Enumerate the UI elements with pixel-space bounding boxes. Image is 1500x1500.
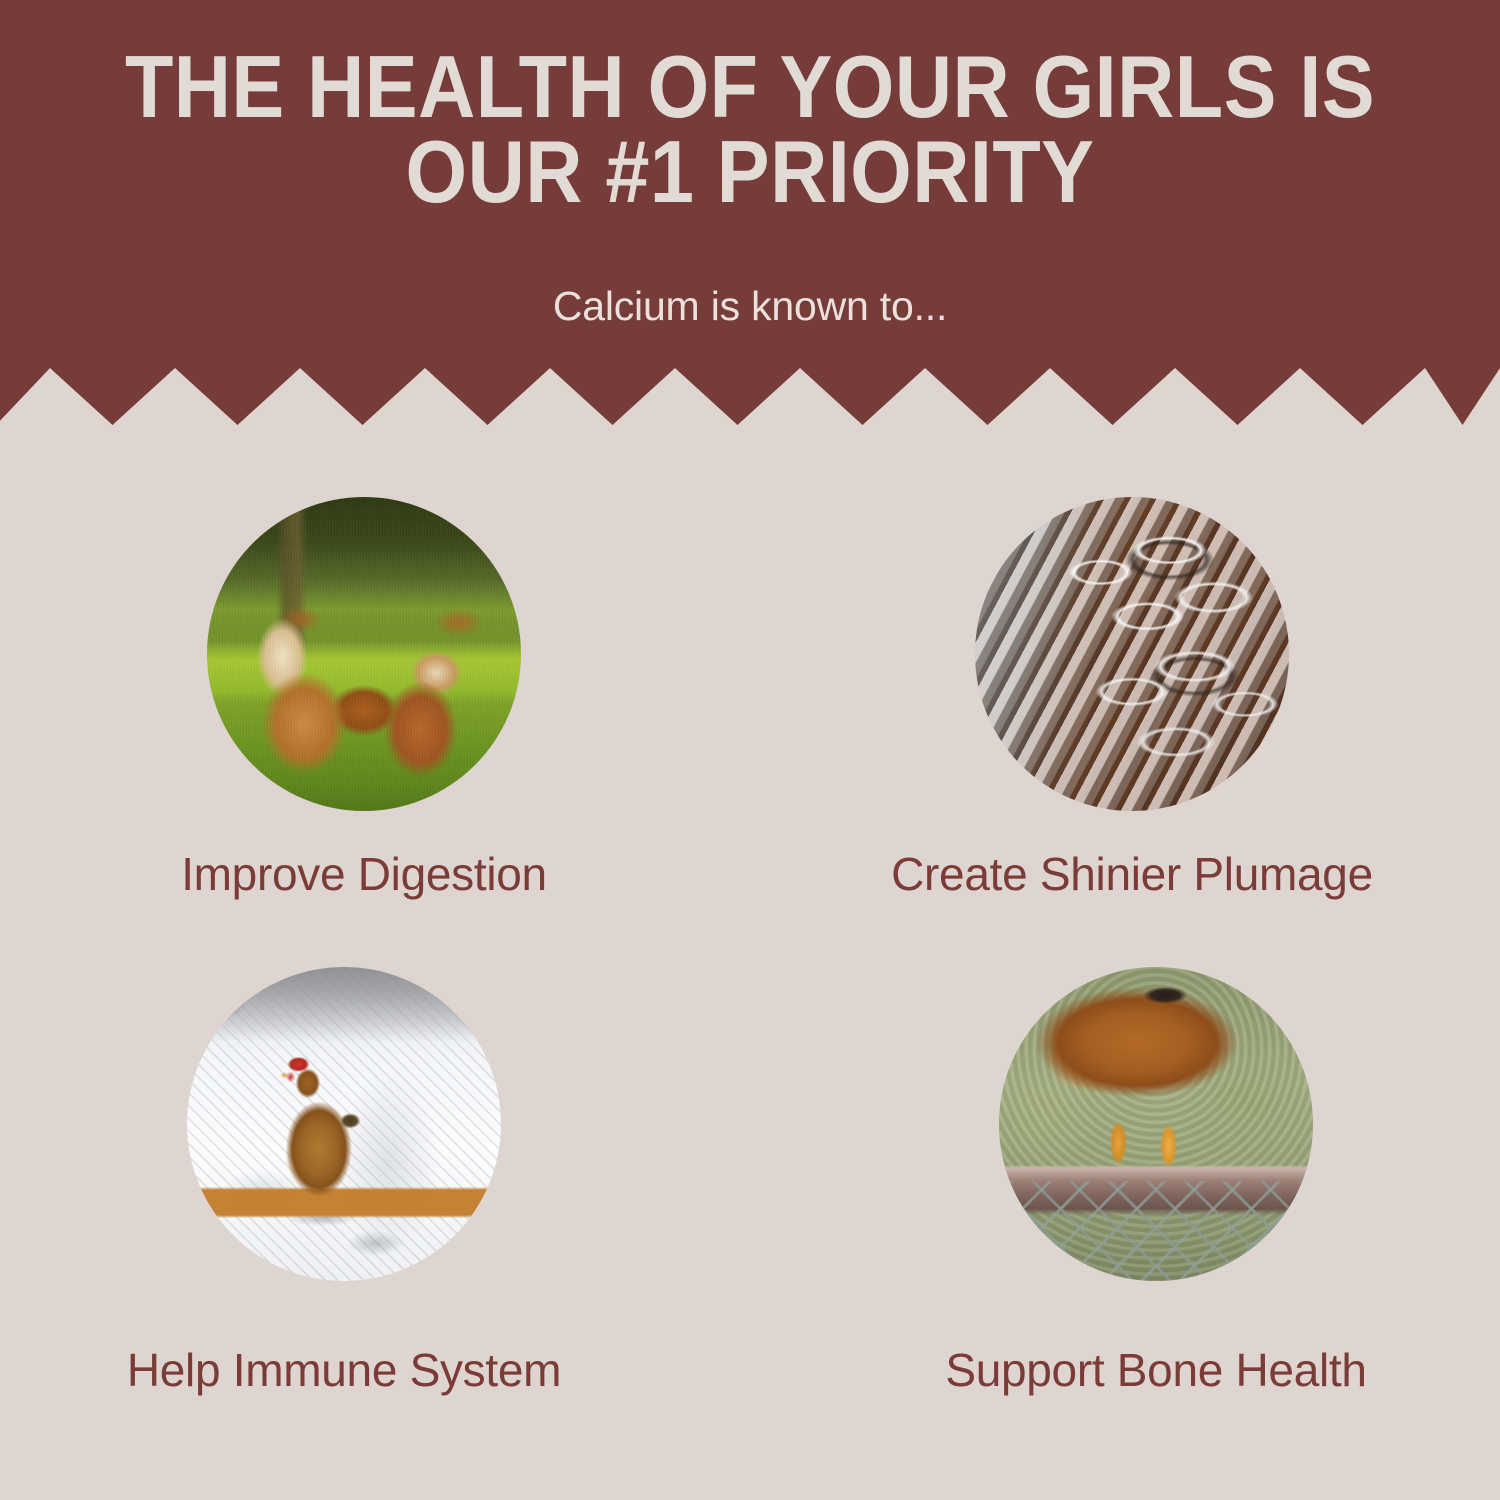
chickens-foraging-image xyxy=(207,497,521,811)
benefit-caption-3: Support Bone Health xyxy=(945,1343,1366,1397)
subtitle: Calcium is known to... xyxy=(0,283,1500,330)
hen-in-snow-photo xyxy=(187,967,501,1281)
benefit-card-shinier-plumage: Create Shinier Plumage xyxy=(750,470,1500,940)
infographic-page: THE HEALTH OF YOUR GIRLS IS OUR #1 PRIOR… xyxy=(0,0,1500,1500)
benefit-caption-2: Help Immune System xyxy=(127,1343,561,1397)
benefit-card-bone-health: Support Bone Health xyxy=(750,940,1500,1410)
benefit-caption-1: Create Shinier Plumage xyxy=(891,847,1373,901)
feather-closeup-image xyxy=(975,497,1289,811)
hen-in-snow-image xyxy=(187,967,501,1281)
benefit-caption-0: Improve Digestion xyxy=(181,847,547,901)
hen-on-fence-image xyxy=(999,967,1313,1281)
chickens-foraging-photo xyxy=(207,497,521,811)
page-title: THE HEALTH OF YOUR GIRLS IS OUR #1 PRIOR… xyxy=(0,44,1500,215)
title-line-2: OUR #1 PRIORITY xyxy=(75,129,1425,214)
feather-closeup-photo xyxy=(975,497,1289,811)
title-line-1: THE HEALTH OF YOUR GIRLS IS xyxy=(75,44,1425,129)
benefit-card-immune-system: Help Immune System xyxy=(0,940,750,1410)
hen-on-fence-photo xyxy=(999,967,1313,1281)
benefit-card-improve-digestion: Improve Digestion xyxy=(0,470,750,940)
benefits-grid: Improve Digestion Create Shinier Plumage… xyxy=(0,470,1500,1410)
